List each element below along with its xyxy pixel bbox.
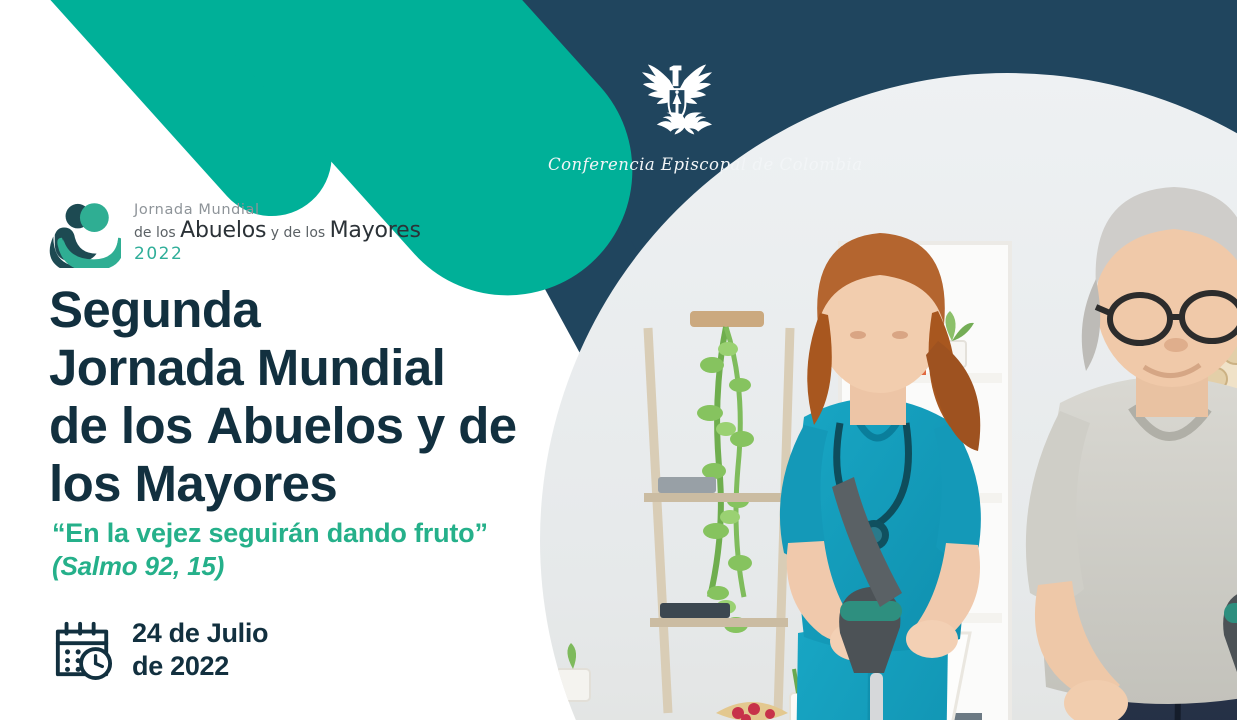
- calendar-clock-icon: [52, 620, 114, 680]
- crest-caption: Conferencia Episcopal de Colombia: [548, 155, 806, 174]
- event-date-block: 24 de Julio de 2022: [52, 617, 268, 683]
- event-date-line-2: de 2022: [132, 650, 268, 683]
- episcopal-eagle-crest: [640, 54, 714, 146]
- logo-line2-mayores: Mayores: [330, 218, 421, 243]
- headline-line-1: Segunda: [49, 281, 589, 339]
- jornada-logo-text: Jornada Mundial de los Abuelos y de los …: [134, 201, 421, 264]
- headline-line3-light: de los: [49, 397, 206, 454]
- quote-text: “En la vejez seguirán dando fruto”: [52, 516, 488, 550]
- jornada-mundial-logo-mark: [49, 196, 121, 268]
- episcopal-crest-block: Conferencia Episcopal de Colombia: [548, 54, 806, 174]
- logo-line-2: de los Abuelos y de los Mayores: [134, 220, 421, 242]
- event-date-line-1: 24 de Julio: [132, 617, 268, 650]
- logo-line-1: Jornada Mundial: [134, 203, 421, 218]
- scripture-quote-block: “En la vejez seguirán dando fruto” (Salm…: [52, 516, 488, 583]
- logo-line2-prefix: de los: [134, 225, 180, 241]
- jornada-logo-lockup: Jornada Mundial de los Abuelos y de los …: [49, 196, 421, 268]
- headline-line-3: de los Abuelos y de: [49, 397, 589, 455]
- headline-line3-bold: Abuelos y de: [206, 397, 516, 454]
- event-date-text: 24 de Julio de 2022: [132, 617, 268, 683]
- logo-year: 2022: [134, 246, 421, 263]
- headline-line-4: los Mayores: [49, 455, 589, 513]
- quote-reference: (Salmo 92, 15): [52, 550, 488, 583]
- page-title: Segunda Jornada Mundial de los Abuelos y…: [49, 281, 589, 513]
- banner-canvas: Conferencia Episcopal de Colombia Jornad…: [0, 0, 1237, 720]
- headline-line-2: Jornada Mundial: [49, 339, 589, 397]
- logo-line2-abuelos: Abuelos: [180, 218, 266, 243]
- logo-line2-middle: y de los: [266, 225, 329, 241]
